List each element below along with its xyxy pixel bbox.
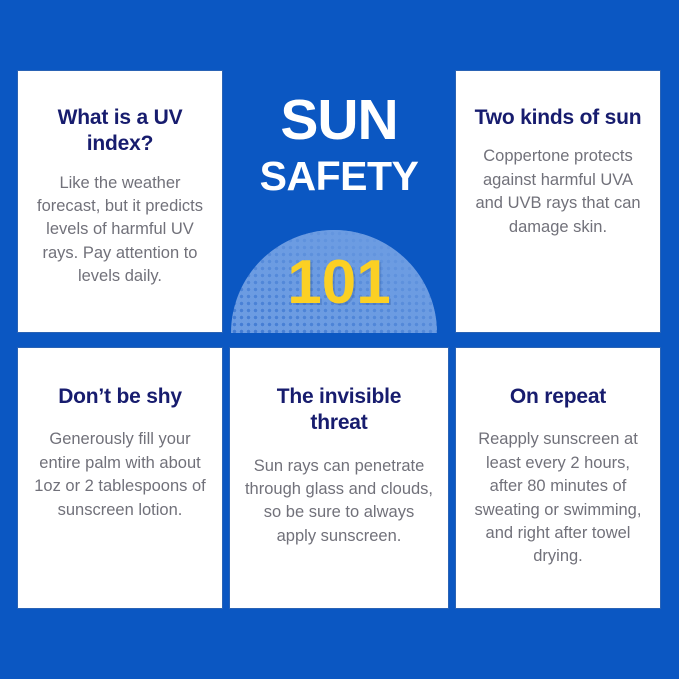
sun-safety-logo: SUN SAFETY 101	[229, 70, 449, 333]
logo-word-sun: SUN	[229, 92, 449, 149]
tip-card-dont-be-shy: Don’t be shy Generously fill your entire…	[17, 347, 223, 609]
logo-word-safety: SAFETY	[229, 156, 449, 197]
tip-card-title: Don’t be shy	[54, 384, 186, 410]
tip-card-on-repeat: On repeat Reapply sunscreen at least eve…	[455, 347, 661, 609]
tip-card-body: Reapply sunscreen at least every 2 hours…	[468, 428, 648, 569]
tip-card-two-kinds-of-sun: Two kinds of sun Coppertone protects aga…	[455, 70, 661, 333]
tip-card-body: Sun rays can penetrate through glass and…	[242, 455, 436, 549]
logo-cell: SUN SAFETY 101	[229, 70, 449, 333]
tip-card-body: Coppertone protects against harmful UVA …	[468, 145, 648, 239]
tip-card-body: Generously fill your entire palm with ab…	[30, 428, 210, 522]
tip-card-invisible-threat: The invisible threat Sun rays can penetr…	[229, 347, 449, 609]
tip-card-title: What is a UV index?	[30, 105, 210, 158]
tip-card-body: Like the weather forecast, but it predic…	[30, 172, 210, 289]
tips-grid: What is a UV index? Like the weather for…	[17, 70, 662, 609]
sun-safety-infographic: What is a UV index? Like the weather for…	[0, 0, 679, 679]
tip-card-uv-index: What is a UV index? Like the weather for…	[17, 70, 223, 333]
tip-card-title: Two kinds of sun	[471, 105, 646, 131]
tip-card-title: On repeat	[506, 384, 610, 410]
tip-card-title: The invisible threat	[242, 384, 436, 437]
logo-number-101: 101	[229, 252, 449, 314]
